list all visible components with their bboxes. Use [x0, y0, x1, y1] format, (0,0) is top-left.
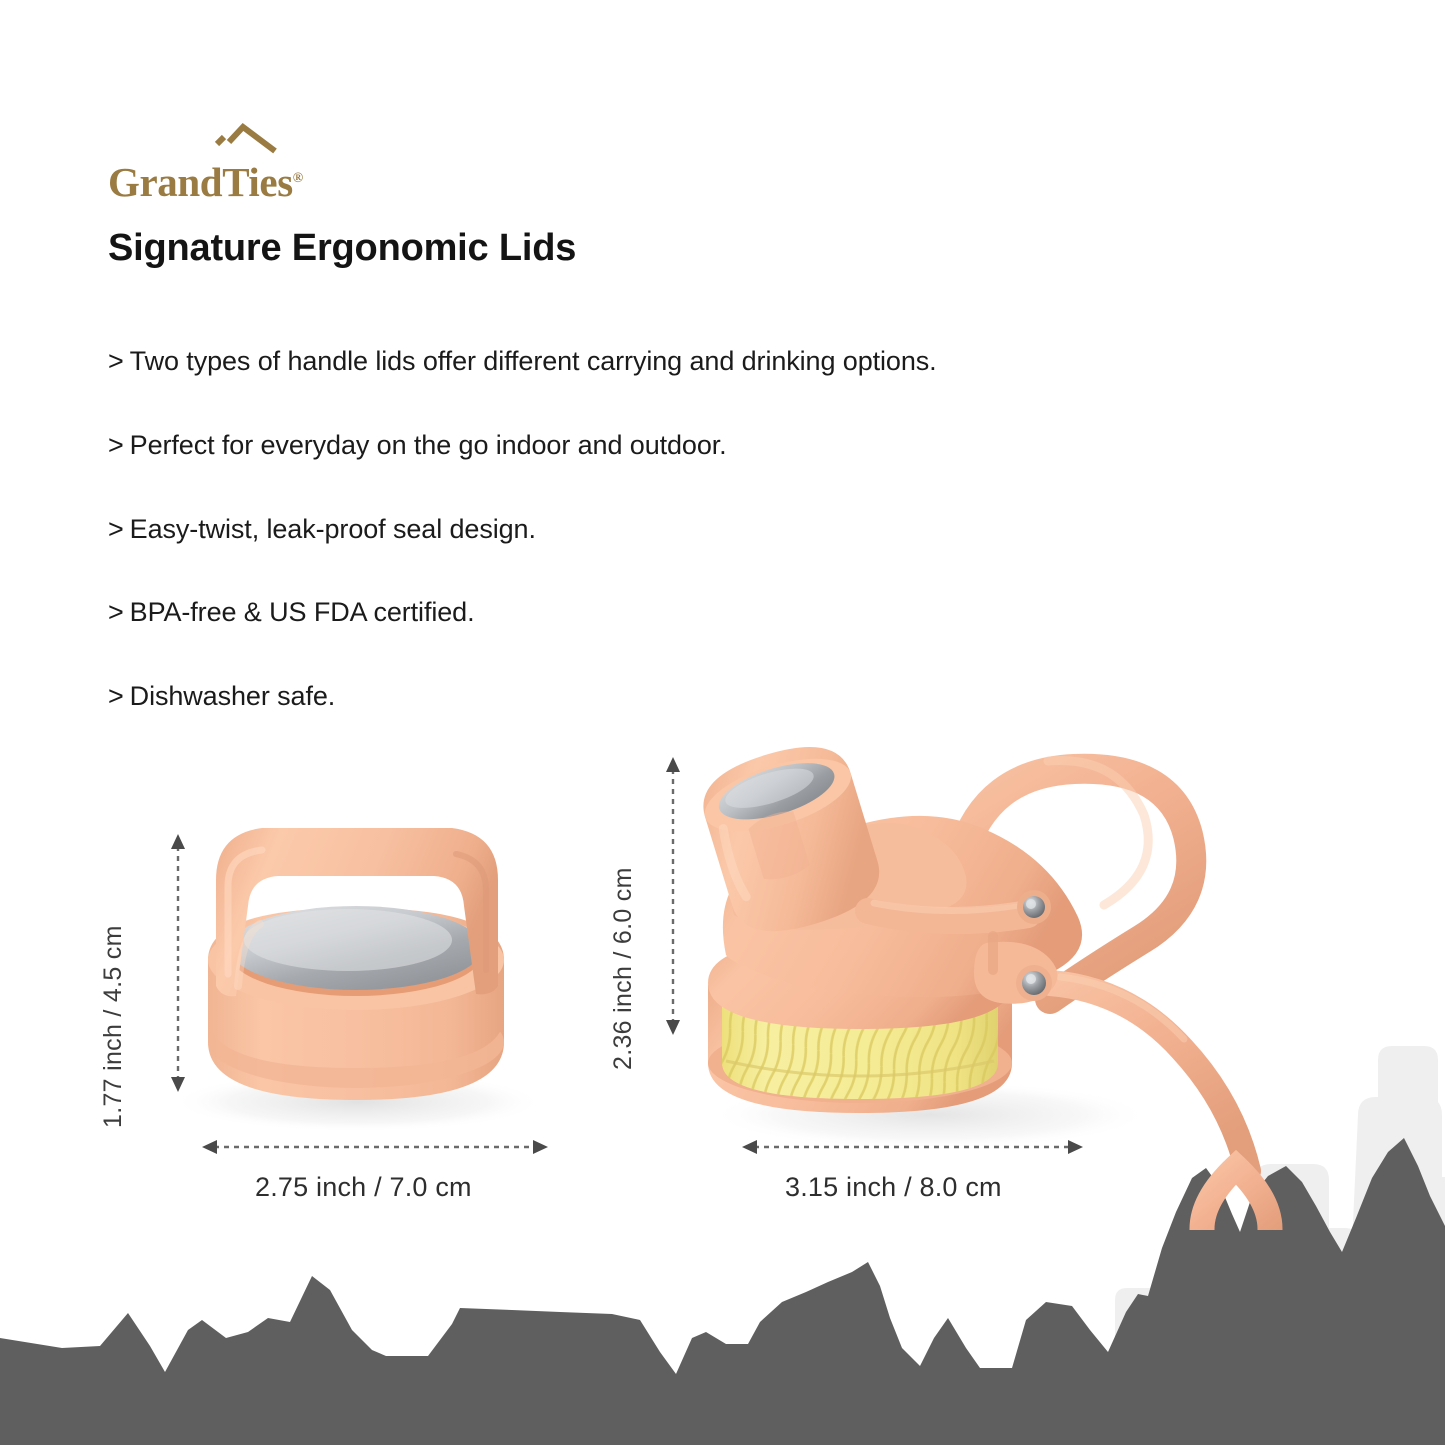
handle-lid-width-label: 2.75 inch / 7.0 cm — [255, 1172, 472, 1203]
feature-item: >BPA-free & US FDA certified. — [108, 596, 1158, 630]
height-dimension-arrow-right — [660, 755, 686, 1037]
feature-item: >Two types of handle lids offer differen… — [108, 345, 1158, 379]
spout-lid-width-label: 3.15 inch / 8.0 cm — [785, 1172, 1002, 1203]
feature-text: Two types of handle lids offer different… — [130, 346, 937, 376]
handle-lid-figure — [120, 810, 590, 1230]
feature-text: Easy-twist, leak-proof seal design. — [130, 514, 536, 544]
hinge-rivet-lower — [1016, 965, 1052, 1001]
height-dimension-arrow-left — [165, 832, 191, 1094]
connector-slot — [988, 931, 998, 975]
hinge-rivet-upper — [1017, 890, 1051, 924]
feature-text: Perfect for everyday on the go indoor an… — [130, 430, 727, 460]
feature-text: BPA-free & US FDA certified. — [130, 597, 475, 627]
feature-marker-icon: > — [108, 681, 124, 711]
product-infographic-page: GrandTies® Signature Ergonomic Lids >Two… — [0, 0, 1445, 1445]
feature-marker-icon: > — [108, 597, 124, 627]
feature-item: >Dishwasher safe. — [108, 680, 1158, 714]
feature-marker-icon: > — [108, 514, 124, 544]
feature-marker-icon: > — [108, 430, 124, 460]
feature-text: Dishwasher safe. — [130, 681, 336, 711]
handle-loop-end — [1202, 1167, 1270, 1230]
brand-wordmark-text: GrandTies — [108, 159, 293, 205]
page-title: Signature Ergonomic Lids — [108, 226, 576, 272]
brand-wordmark: GrandTies® — [108, 162, 303, 203]
feature-marker-icon: > — [108, 346, 124, 376]
registered-trademark-icon: ® — [293, 171, 303, 186]
feature-item: >Easy-twist, leak-proof seal design. — [108, 513, 1158, 547]
width-dimension-arrow-left — [200, 1137, 550, 1157]
brand-block: GrandTies® — [108, 118, 303, 203]
width-dimension-arrow-right — [740, 1137, 1085, 1157]
feature-item: >Perfect for everyday on the go indoor a… — [108, 429, 1158, 463]
roof-chevron-icon — [196, 118, 290, 160]
feature-list: >Two types of handle lids offer differen… — [108, 345, 1158, 764]
